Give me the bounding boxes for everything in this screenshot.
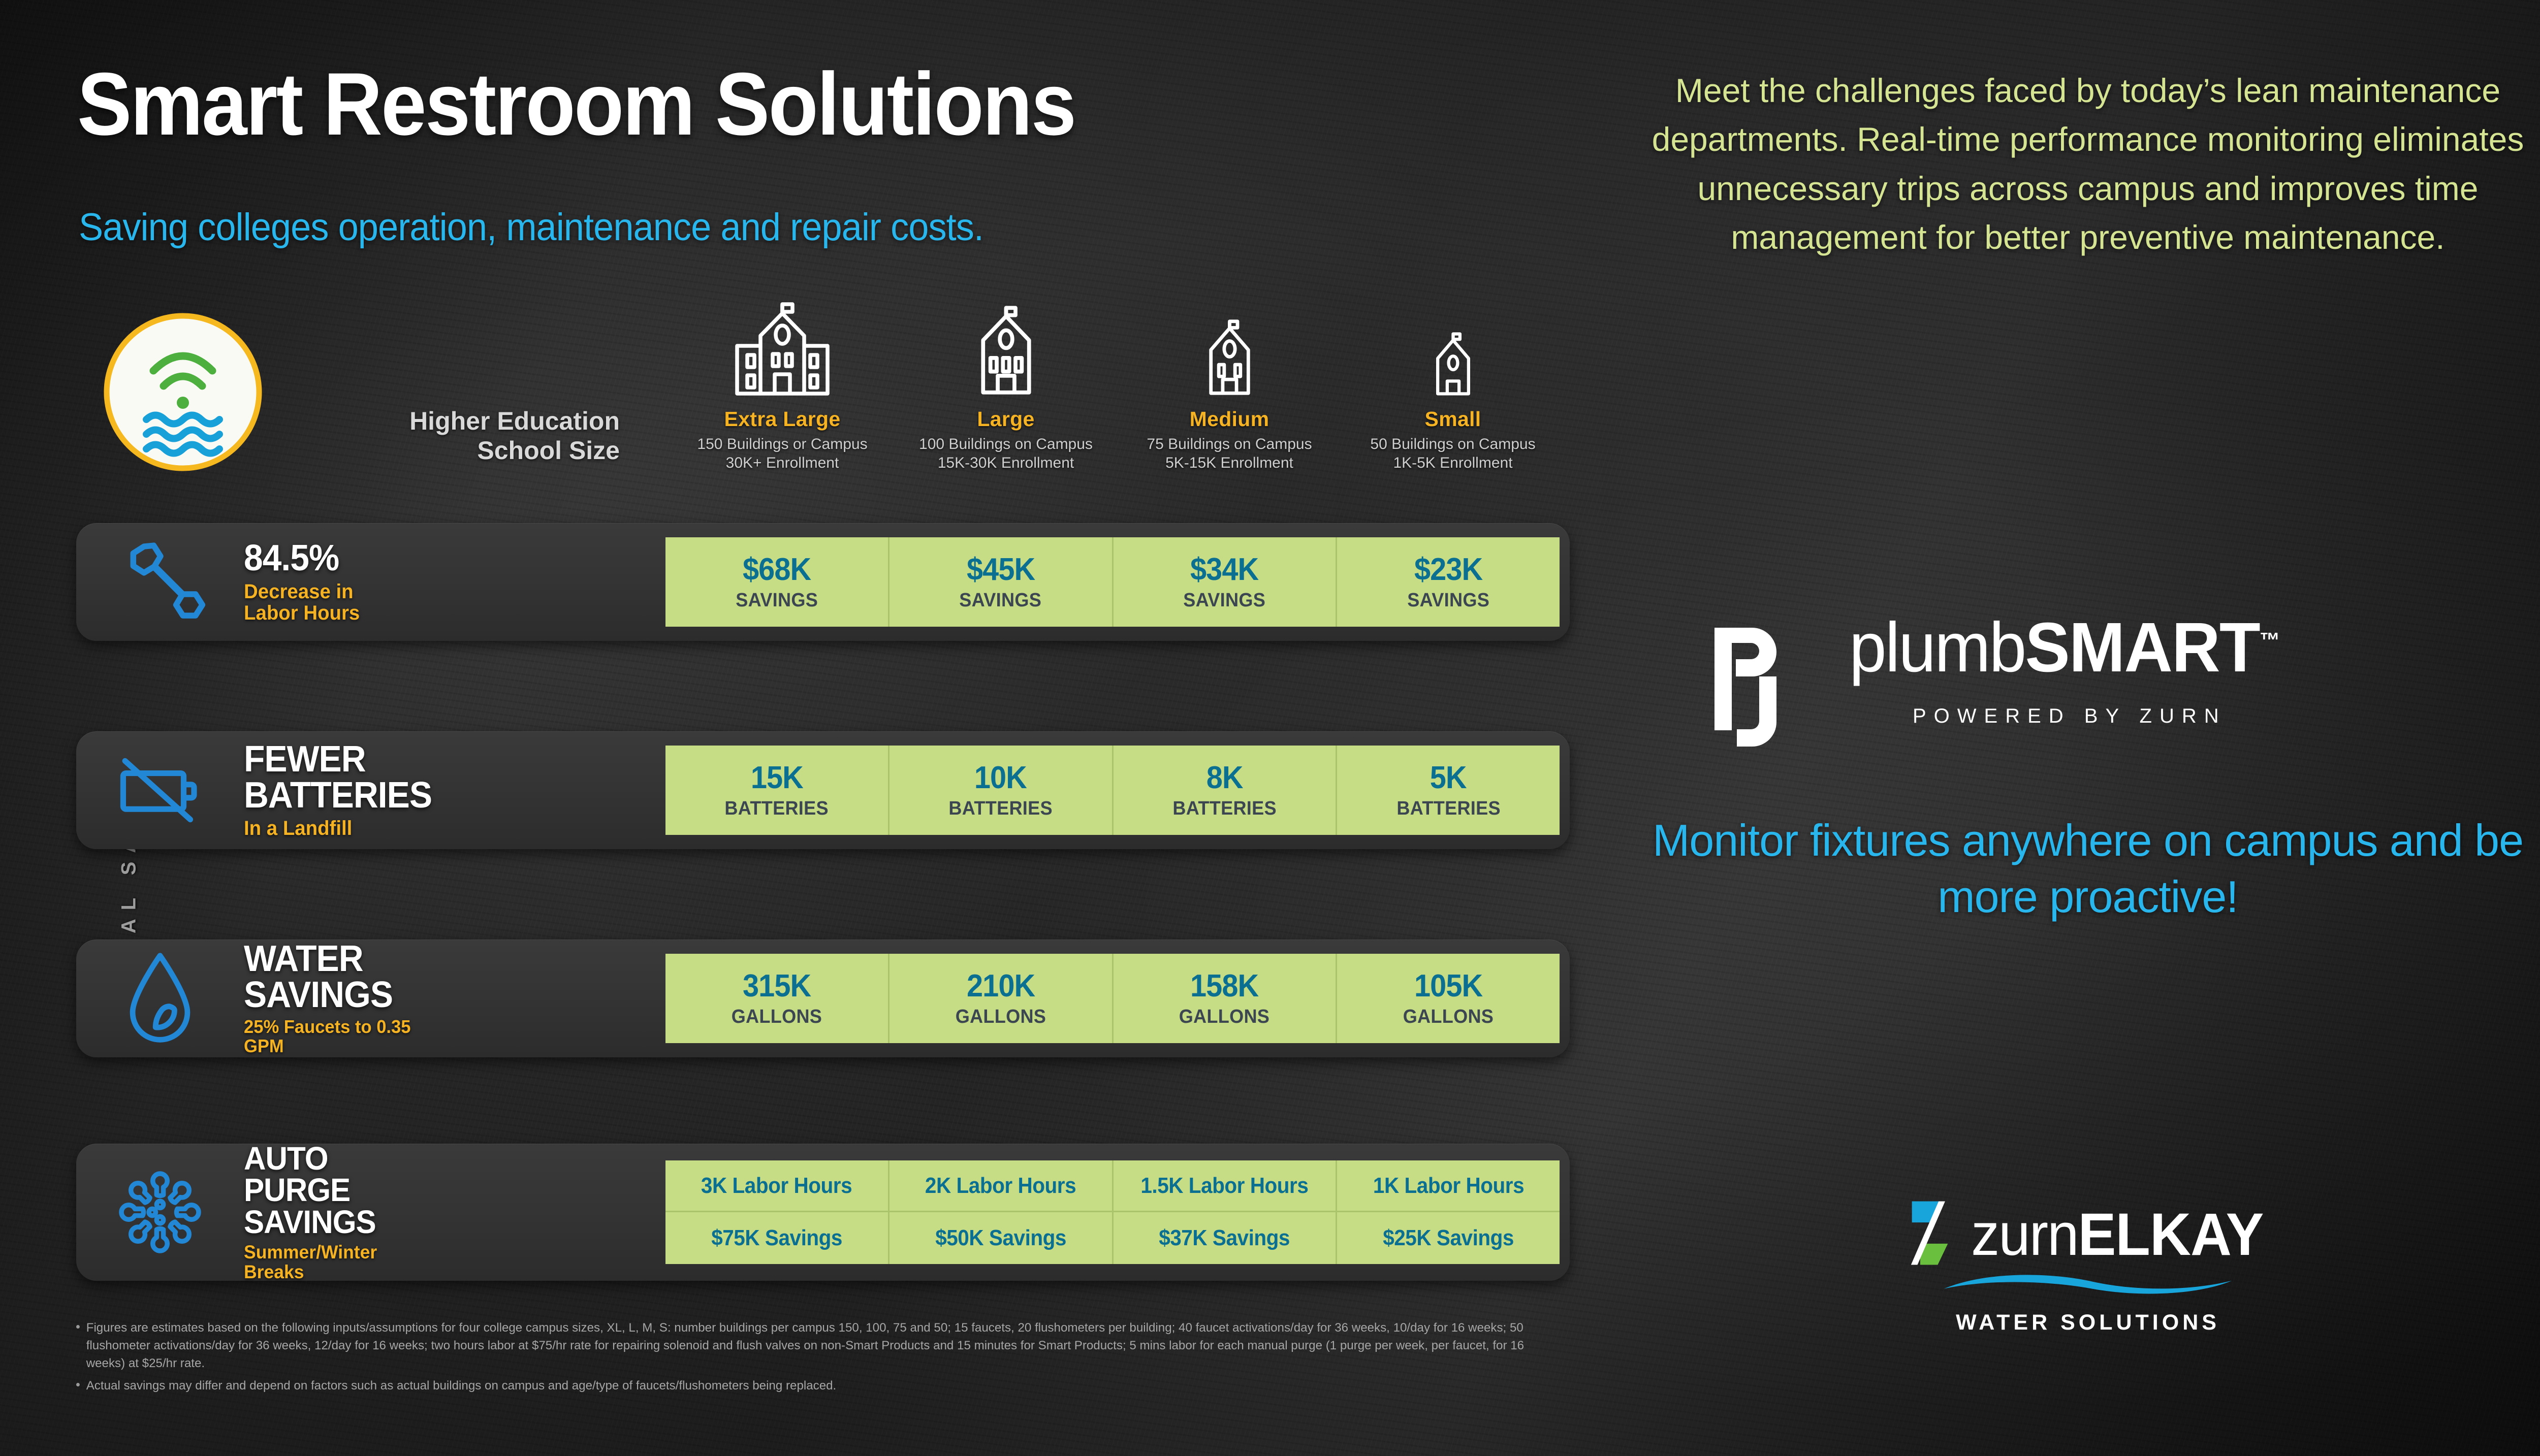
school-size-buildings: 50 Buildings on Campus	[1370, 435, 1535, 454]
school-building-icon	[1190, 316, 1269, 400]
plumbsmart-word-light: plumb	[1849, 608, 2025, 687]
school-size-name: Small	[1425, 407, 1481, 431]
cell-value: 315K	[743, 970, 811, 1002]
savings-row: $75K Savings $50K Savings $37K Savings $…	[665, 1212, 1560, 1264]
school-size-name: Large	[977, 407, 1034, 431]
school-size-buildings: 75 Buildings on Campus	[1147, 435, 1312, 454]
row-text: FEWER BATTERIES In a Landfill	[244, 741, 462, 839]
school-size-column: Medium 75 Buildings on Campus 5K-15K Enr…	[1118, 305, 1341, 472]
plumbsmart-mark-icon	[1699, 610, 1791, 750]
row-subhead: Summer/Winter Breaks	[244, 1243, 441, 1282]
pitch-paragraph: Meet the challenges faced by today’s lea…	[1646, 66, 2530, 262]
savings-cell: 105K GALLONS	[1337, 954, 1560, 1043]
row-headline: FEWER BATTERIES	[244, 741, 437, 813]
savings-cell: 8K BATTERIES	[1114, 746, 1338, 835]
auto-purge-cell: 2K Labor Hours	[890, 1160, 1114, 1212]
school-size-name: Medium	[1190, 407, 1269, 431]
cell-value: $37K Savings	[1159, 1225, 1290, 1251]
row-headline: WATER SAVINGS	[244, 941, 437, 1013]
auto-purge-cell: 1K Labor Hours	[1337, 1160, 1560, 1212]
cell-value: 15K	[750, 762, 803, 794]
auto-purge-cell: $25K Savings	[1337, 1212, 1560, 1264]
savings-cell-grid: 315K GALLONS 210K GALLONS 158K GALLONS 1…	[665, 954, 1560, 1043]
savings-row-auto-purge: AUTO PURGE SAVINGS Summer/Winter Breaks …	[76, 1144, 1570, 1281]
cell-value: 158K	[1190, 970, 1258, 1002]
school-size-enrollment: 15K-30K Enrollment	[919, 454, 1093, 472]
cell-unit: SAVINGS	[1407, 591, 1489, 610]
row-headline-line1: WATER	[244, 941, 437, 977]
savings-cell: 5K BATTERIES	[1337, 746, 1560, 835]
cell-value: $34K	[1190, 554, 1258, 586]
cell-unit: GALLONS	[955, 1007, 1045, 1026]
row-text: WATER SAVINGS 25% Faucets to 0.35 GPM	[244, 941, 462, 1056]
cell-unit: BATTERIES	[948, 799, 1052, 818]
savings-cell-grid: 15K BATTERIES 10K BATTERIES 8K BATTERIES…	[665, 746, 1560, 835]
footnote-item: Actual savings may differ and depend on …	[76, 1377, 1558, 1395]
cell-unit: BATTERIES	[1172, 799, 1276, 818]
school-size-label-line1: Higher Education	[351, 406, 620, 436]
zurn-z-mark-icon	[1904, 1199, 1955, 1270]
row-subhead: 25% Faucets to 0.35 GPM	[244, 1017, 441, 1056]
row-headline-line2: SAVINGS	[244, 977, 437, 1013]
cell-unit: SAVINGS	[736, 591, 818, 610]
no-battery-icon	[76, 752, 244, 828]
zurn-elkay-row: zurnELKAY	[1808, 1199, 2367, 1270]
page-subtitle: Saving colleges operation, maintenance a…	[79, 208, 983, 247]
cell-value: 1.5K Labor Hours	[1140, 1173, 1308, 1199]
savings-cell: 210K GALLONS	[890, 954, 1114, 1043]
row-headline: AUTO PURGE SAVINGS	[244, 1143, 437, 1238]
zurn-elkay-tagline: WATER SOLUTIONS	[1808, 1310, 2367, 1335]
cell-unit: GALLONS	[1403, 1007, 1494, 1026]
school-size-column: Large 100 Buildings on Campus 15K-30K En…	[894, 305, 1118, 472]
auto-purge-icon	[76, 1164, 244, 1260]
row-text: AUTO PURGE SAVINGS Summer/Winter Breaks	[244, 1143, 462, 1282]
savings-cell: $23K SAVINGS	[1337, 537, 1560, 627]
cell-unit: BATTERIES	[1396, 799, 1500, 818]
water-drop-icon	[76, 949, 244, 1048]
school-size-details: 50 Buildings on Campus 1K-5K Enrollment	[1370, 435, 1535, 472]
row-headline-line2: SAVINGS	[244, 1206, 437, 1238]
row-text: 84.5% Decrease in Labor Hours	[244, 540, 462, 624]
cell-value: 8K	[1206, 762, 1243, 794]
savings-row-labor-hours: 84.5% Decrease in Labor Hours $68K SAVIN…	[76, 523, 1570, 641]
footnote-text: Actual savings may differ and depend on …	[86, 1377, 837, 1395]
school-size-name: Extra Large	[724, 407, 841, 431]
cell-value: $23K	[1414, 554, 1482, 586]
cell-unit: BATTERIES	[725, 799, 829, 818]
savings-cell: $45K SAVINGS	[890, 537, 1114, 627]
row-headline: 84.5%	[244, 540, 437, 576]
auto-purge-cell: $37K Savings	[1114, 1212, 1338, 1264]
school-size-column: Small 50 Buildings on Campus 1K-5K Enrol…	[1341, 305, 1565, 472]
cell-unit: GALLONS	[732, 1007, 822, 1026]
cell-value: 5K	[1430, 762, 1467, 794]
school-size-enrollment: 30K+ Enrollment	[697, 454, 867, 472]
savings-cell: 15K BATTERIES	[665, 746, 890, 835]
cell-unit: GALLONS	[1179, 1007, 1269, 1026]
wifi-water-icon	[102, 311, 264, 473]
footnotes: Figures are estimates based on the follo…	[76, 1319, 1580, 1400]
school-size-enrollment: 5K-15K Enrollment	[1147, 454, 1312, 472]
page-title: Smart Restroom Solutions	[77, 60, 1075, 149]
cell-value: 105K	[1414, 970, 1482, 1002]
cell-value: 3K Labor Hours	[701, 1173, 852, 1199]
plumbsmart-logo: plumbSMART™ POWERED BY ZURN	[1699, 605, 2492, 753]
plumbsmart-powered-by: POWERED BY ZURN	[1913, 705, 2227, 728]
savings-cell: $34K SAVINGS	[1114, 537, 1338, 627]
school-size-column: Extra Large 150 Buildings or Campus 30K+…	[671, 305, 894, 472]
cell-unit: SAVINGS	[960, 591, 1042, 610]
wrench-icon	[76, 536, 244, 628]
auto-purge-cell-grid: 3K Labor Hours 2K Labor Hours 1.5K Labor…	[665, 1160, 1560, 1264]
bullet-icon	[76, 1383, 80, 1386]
auto-purge-cell: 1.5K Labor Hours	[1114, 1160, 1338, 1212]
row-headline-line1: FEWER	[244, 741, 437, 778]
monitor-cta: Monitor fixtures anywhere on campus and …	[1641, 813, 2535, 925]
savings-cell: 10K BATTERIES	[890, 746, 1114, 835]
right-panel: Meet the challenges faced by today’s lea…	[1615, 0, 2540, 1456]
cell-value: $45K	[967, 554, 1035, 586]
left-panel: Smart Restroom Solutions Saving colleges…	[0, 0, 1565, 1456]
school-size-details: 75 Buildings on Campus 5K-15K Enrollment	[1147, 435, 1312, 472]
cell-value: 210K	[967, 970, 1035, 1002]
cell-value: 2K Labor Hours	[925, 1173, 1076, 1199]
auto-purge-cell: 3K Labor Hours	[665, 1160, 890, 1212]
savings-row-batteries: FEWER BATTERIES In a Landfill 15K BATTER…	[76, 731, 1570, 849]
cell-value: 10K	[974, 762, 1027, 794]
row-subhead-line1: Decrease in	[244, 581, 441, 602]
elkay-word: ELKAY	[2078, 1201, 2264, 1268]
plumbsmart-wordmark: plumbSMART™	[1849, 612, 2280, 683]
zurn-elkay-wordmark: zurnELKAY	[1971, 1205, 2263, 1265]
savings-row-water: WATER SAVINGS 25% Faucets to 0.35 GPM 31…	[76, 940, 1570, 1057]
school-size-enrollment: 1K-5K Enrollment	[1370, 454, 1535, 472]
school-size-label: Higher Education School Size	[351, 406, 620, 465]
cell-unit: SAVINGS	[1183, 591, 1265, 610]
row-headline-line2: BATTERIES	[244, 778, 437, 814]
footnote-item: Figures are estimates based on the follo…	[76, 1319, 1558, 1372]
savings-cell: $68K SAVINGS	[665, 537, 890, 627]
school-building-icon	[1421, 329, 1485, 400]
cell-value: $68K	[743, 554, 811, 586]
school-size-columns: Extra Large 150 Buildings or Campus 30K+…	[671, 305, 1565, 472]
trademark-symbol: ™	[2260, 628, 2280, 652]
row-subhead: In a Landfill	[244, 818, 441, 839]
school-building-icon	[959, 304, 1053, 400]
school-size-buildings: 150 Buildings or Campus	[697, 435, 867, 454]
school-building-icon	[724, 301, 841, 400]
school-size-buildings: 100 Buildings on Campus	[919, 435, 1093, 454]
school-size-details: 100 Buildings on Campus 15K-30K Enrollme…	[919, 435, 1093, 472]
school-size-label-line2: School Size	[351, 436, 620, 465]
row-subhead: Decrease in Labor Hours	[244, 581, 441, 624]
cell-value: 1K Labor Hours	[1373, 1173, 1524, 1199]
cell-value: $75K Savings	[711, 1225, 842, 1251]
auto-purge-cell: $50K Savings	[890, 1212, 1114, 1264]
zurn-word: zurn	[1971, 1201, 2078, 1268]
labor-hours-row: 3K Labor Hours 2K Labor Hours 1.5K Labor…	[665, 1160, 1560, 1212]
savings-cell: 158K GALLONS	[1114, 954, 1338, 1043]
row-headline-line1: AUTO PURGE	[244, 1143, 437, 1206]
plumbsmart-word-bold: SMART	[2025, 608, 2259, 687]
cell-value: $25K Savings	[1383, 1225, 1514, 1251]
cell-value: $50K Savings	[935, 1225, 1066, 1251]
water-wave-icon	[1808, 1268, 2367, 1302]
bullet-icon	[76, 1325, 80, 1329]
savings-cell-grid: $68K SAVINGS $45K SAVINGS $34K SAVINGS $…	[665, 537, 1560, 627]
savings-cell: 315K GALLONS	[665, 954, 890, 1043]
footnote-text: Figures are estimates based on the follo…	[86, 1319, 1558, 1372]
row-subhead-line2: Labor Hours	[244, 602, 441, 624]
zurn-elkay-logo: zurnELKAY WATER SOLUTIONS	[1808, 1199, 2367, 1356]
school-size-details: 150 Buildings or Campus 30K+ Enrollment	[697, 435, 867, 472]
auto-purge-cell: $75K Savings	[665, 1212, 890, 1264]
